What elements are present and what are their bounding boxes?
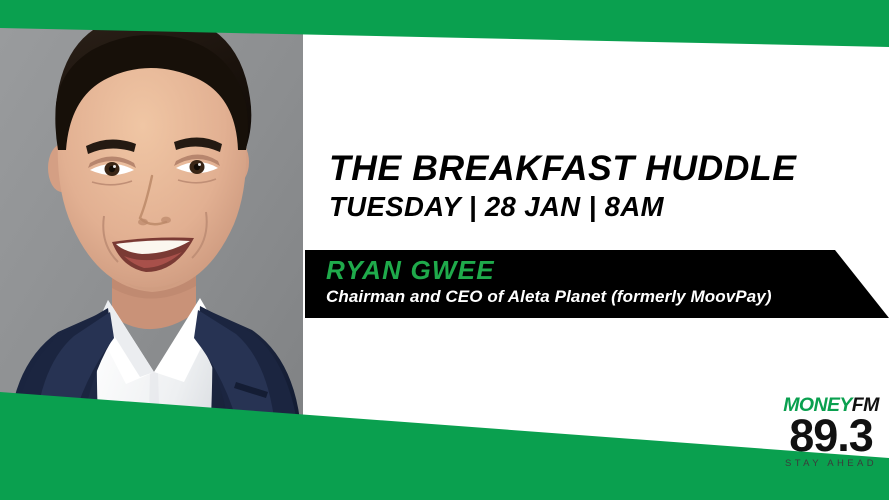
logo-tagline: STAY AHEAD [777, 459, 885, 469]
guest-portrait-image [0, 0, 303, 500]
station-logo: MONEYFM 89.3 STAY AHEAD [777, 396, 885, 468]
promo-poster: THE BREAKFAST HUDDLE TUESDAY | 28 JAN | … [0, 0, 889, 500]
show-schedule: TUESDAY | 28 JAN | 8AM [329, 192, 874, 222]
headline-block: THE BREAKFAST HUDDLE TUESDAY | 28 JAN | … [329, 150, 874, 221]
guest-text-group: RYAN GWEE Chairman and CEO of Aleta Plan… [326, 256, 772, 307]
guest-name: RYAN GWEE [326, 256, 772, 286]
show-title: THE BREAKFAST HUDDLE [329, 150, 874, 188]
guest-photo-panel [0, 0, 303, 500]
logo-frequency: 89.3 [777, 414, 885, 458]
guest-role: Chairman and CEO of Aleta Planet (former… [326, 287, 772, 307]
guest-banner: RYAN GWEE Chairman and CEO of Aleta Plan… [305, 250, 889, 320]
